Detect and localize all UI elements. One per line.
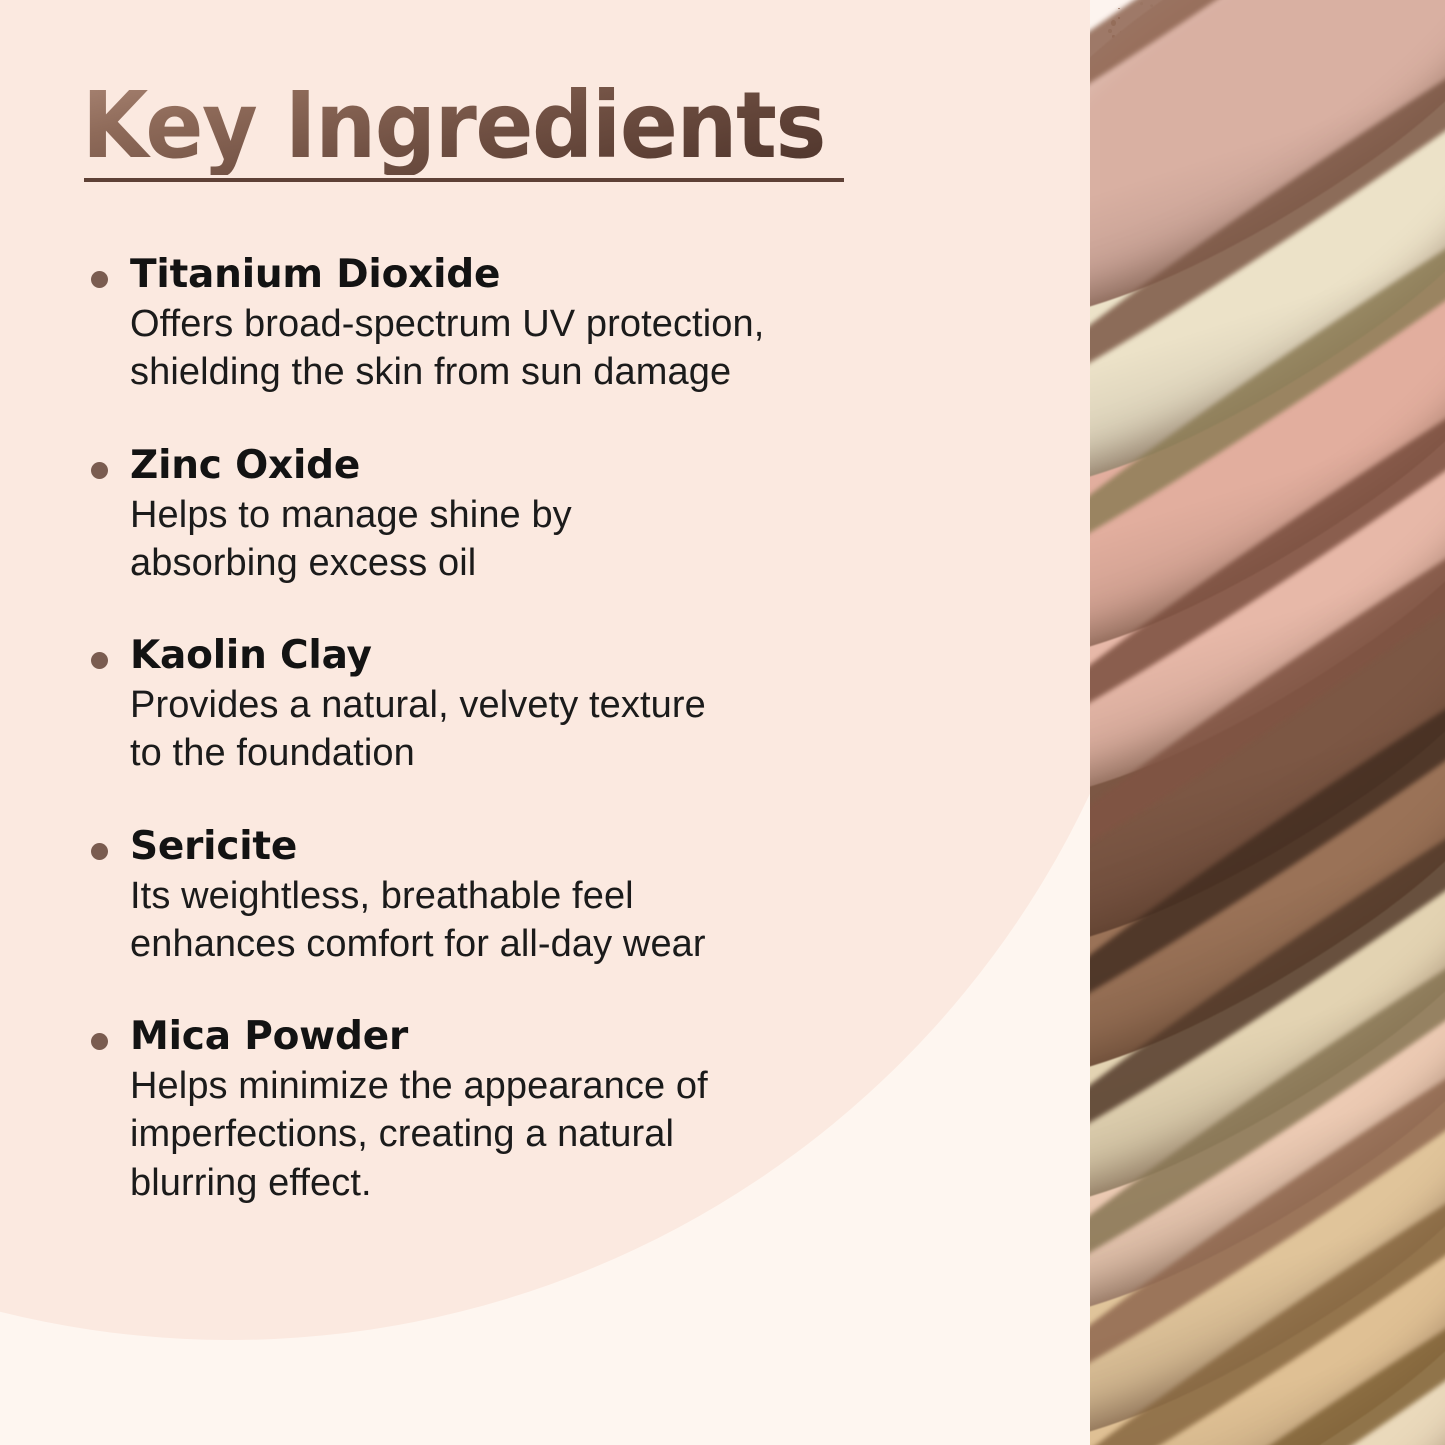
ingredient-description: Its weightless, breathable feel enhances…: [130, 872, 1026, 969]
list-item: Kaolin Clay Provides a natural, velvety …: [86, 633, 1026, 778]
list-item: Mica Powder Helps minimize the appearanc…: [86, 1014, 1026, 1207]
bullet-dot-icon: [91, 652, 108, 669]
bullet-dot-icon: [91, 843, 108, 860]
ingredient-name: Sericite: [130, 824, 1026, 870]
ingredient-description: Offers broad-spectrum UV protection, shi…: [130, 300, 1026, 397]
ingredient-description: Helps to manage shine by absorbing exces…: [130, 491, 1026, 588]
ingredient-list: Titanium Dioxide Offers broad-spectrum U…: [86, 252, 1026, 1207]
bullet-dot-icon: [91, 271, 108, 288]
bullet-dot-icon: [91, 462, 108, 479]
ingredient-name: Zinc Oxide: [130, 443, 1026, 489]
ingredient-description: Helps minimize the appearance of imperfe…: [130, 1062, 1026, 1207]
key-ingredients-infographic: Key Ingredients Titanium Dioxide Offers …: [0, 0, 1445, 1445]
list-item: Titanium Dioxide Offers broad-spectrum U…: [86, 252, 1026, 397]
page-title: Key Ingredients: [82, 78, 825, 175]
ingredient-name: Titanium Dioxide: [130, 252, 1026, 298]
ingredient-description: Provides a natural, velvety texture to t…: [130, 681, 1026, 778]
powder-swatch-photo: [1090, 0, 1445, 1445]
list-item: Sericite Its weightless, breathable feel…: [86, 824, 1026, 969]
text-content-column: Key Ingredients Titanium Dioxide Offers …: [0, 0, 1060, 1445]
title-block: Key Ingredients: [82, 78, 982, 175]
list-item: Zinc Oxide Helps to manage shine by abso…: [86, 443, 1026, 588]
ingredient-name: Kaolin Clay: [130, 633, 1026, 679]
title-underline: [84, 178, 844, 182]
bullet-dot-icon: [91, 1033, 108, 1050]
ingredient-name: Mica Powder: [130, 1014, 1026, 1060]
